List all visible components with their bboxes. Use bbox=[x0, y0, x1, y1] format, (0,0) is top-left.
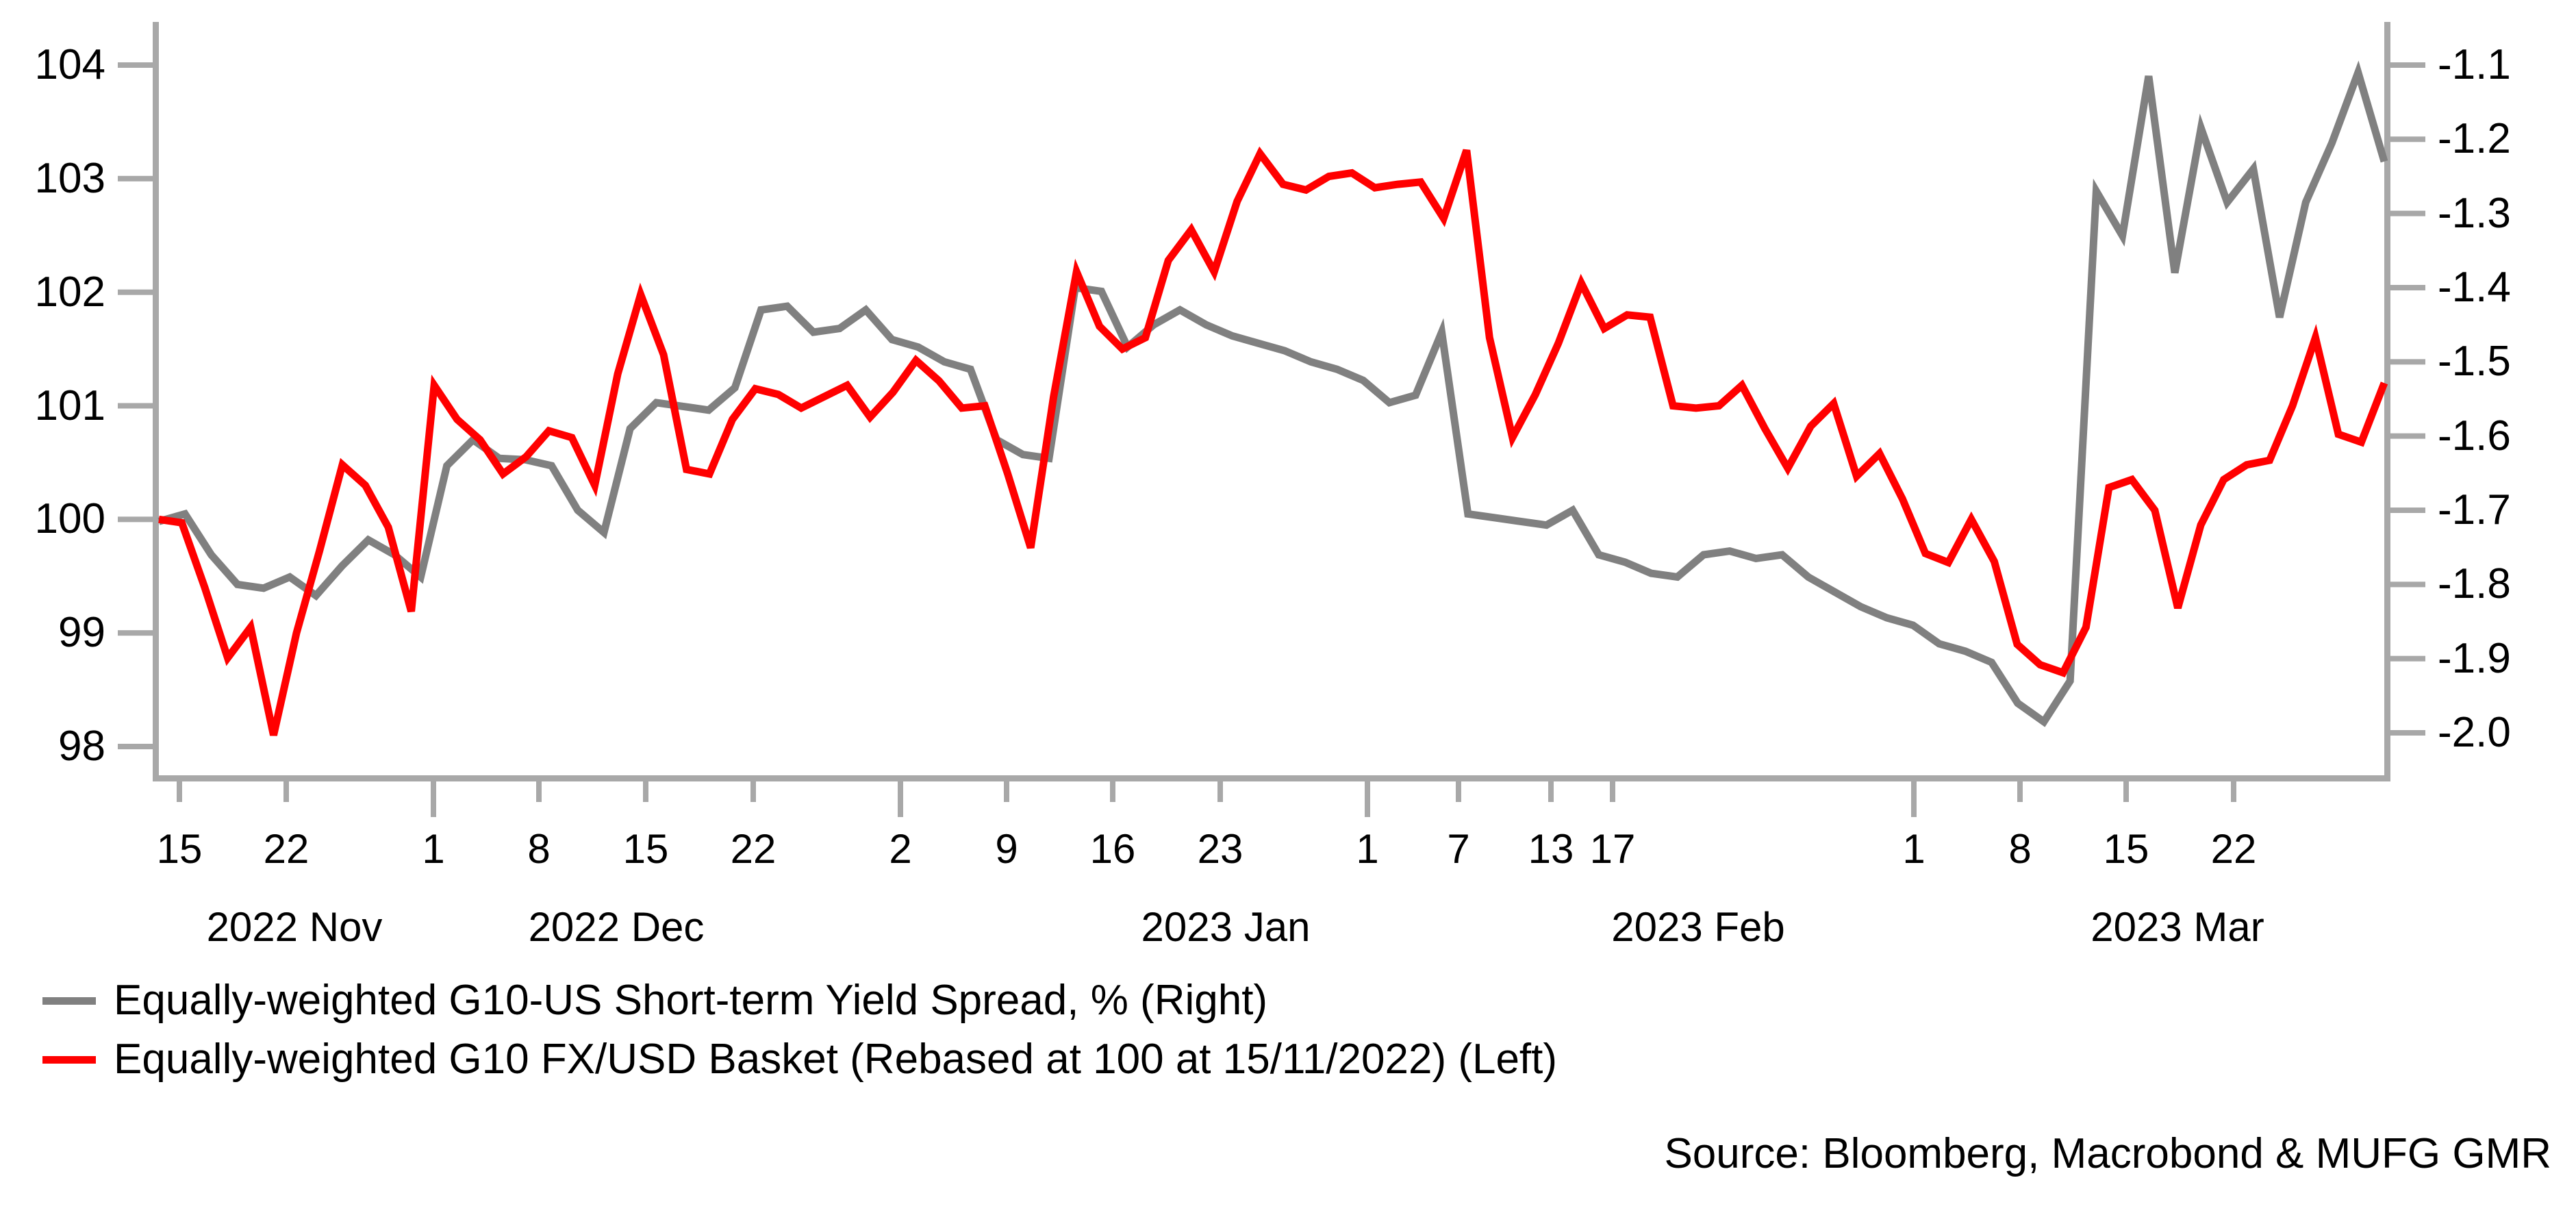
chart-legend: Equally-weighted G10-US Short-term Yield… bbox=[42, 971, 2097, 1089]
legend-swatch-gray-line-icon bbox=[42, 997, 96, 1005]
x-axis-day-tick-label: 15 bbox=[591, 829, 700, 870]
x-axis-day-tick-label: 15 bbox=[2071, 829, 2181, 870]
chart-plot-area: 9899100101102103104 -1.1-1.2-1.3-1.4-1.5… bbox=[0, 0, 2576, 890]
x-axis-day-tick-label: 17 bbox=[1558, 829, 1667, 870]
x-axis-day-tick-label: 8 bbox=[1965, 829, 2075, 870]
x-axis-day-tick-label: 1 bbox=[379, 829, 488, 870]
y-left-tick-label: 101 bbox=[0, 385, 105, 427]
x-axis-month-label: 2023 Jan bbox=[986, 907, 1465, 948]
series-line-fx-basket bbox=[159, 150, 2384, 735]
x-axis-day-tick-label: 1 bbox=[1859, 829, 1969, 870]
y-right-tick-label: -1.3 bbox=[2438, 192, 2511, 235]
x-axis-month-label: 2023 Feb bbox=[1459, 907, 1938, 948]
y-right-tick-label: -1.2 bbox=[2438, 118, 2511, 160]
y-right-tick-label: -1.9 bbox=[2438, 638, 2511, 680]
x-axis-day-tick-label: 16 bbox=[1058, 829, 1167, 870]
x-axis-day-tick-label: 15 bbox=[125, 829, 234, 870]
y-left-tick-label: 99 bbox=[0, 612, 105, 654]
x-axis-day-tick-label: 8 bbox=[484, 829, 594, 870]
y-right-tick-label: -1.7 bbox=[2438, 489, 2511, 531]
x-axis-day-tick-label: 22 bbox=[698, 829, 808, 870]
legend-label-yield-spread: Equally-weighted G10-US Short-term Yield… bbox=[114, 979, 1267, 1022]
chart-svg bbox=[0, 0, 2576, 890]
axis-group bbox=[118, 22, 2425, 817]
x-axis-day-tick-label: 2 bbox=[846, 829, 955, 870]
y-right-tick-label: -1.5 bbox=[2438, 340, 2511, 383]
series-group bbox=[159, 73, 2384, 736]
y-right-tick-label: -1.8 bbox=[2438, 563, 2511, 605]
y-left-tick-label: 100 bbox=[0, 498, 105, 540]
y-left-tick-label: 104 bbox=[0, 44, 105, 86]
y-left-tick-label: 98 bbox=[0, 725, 105, 768]
y-left-tick-label: 103 bbox=[0, 158, 105, 200]
legend-label-fx-basket: Equally-weighted G10 FX/USD Basket (Reba… bbox=[114, 1038, 1557, 1081]
x-axis-day-tick-label: 22 bbox=[231, 829, 341, 870]
legend-swatch-red-line-icon bbox=[42, 1056, 96, 1064]
y-left-tick-label: 102 bbox=[0, 271, 105, 314]
y-right-tick-label: -1.1 bbox=[2438, 44, 2511, 86]
x-axis-day-tick-label: 22 bbox=[2179, 829, 2288, 870]
chart-root: 9899100101102103104 -1.1-1.2-1.3-1.4-1.5… bbox=[0, 0, 2576, 1228]
x-axis-day-tick-label: 9 bbox=[952, 829, 1061, 870]
x-axis-day-tick-label: 23 bbox=[1165, 829, 1275, 870]
x-axis-month-label: 2022 Dec bbox=[377, 907, 856, 948]
legend-item-fx-basket: Equally-weighted G10 FX/USD Basket (Reba… bbox=[42, 1030, 2097, 1089]
y-right-tick-label: -1.6 bbox=[2438, 415, 2511, 458]
x-axis-month-label: 2023 Mar bbox=[1938, 907, 2417, 948]
y-right-tick-label: -2.0 bbox=[2438, 712, 2511, 754]
legend-item-yield-spread: Equally-weighted G10-US Short-term Yield… bbox=[42, 971, 2097, 1030]
source-note: Source: Bloomberg, Macrobond & MUFG GMR bbox=[1664, 1133, 2551, 1175]
y-right-tick-label: -1.4 bbox=[2438, 266, 2511, 309]
